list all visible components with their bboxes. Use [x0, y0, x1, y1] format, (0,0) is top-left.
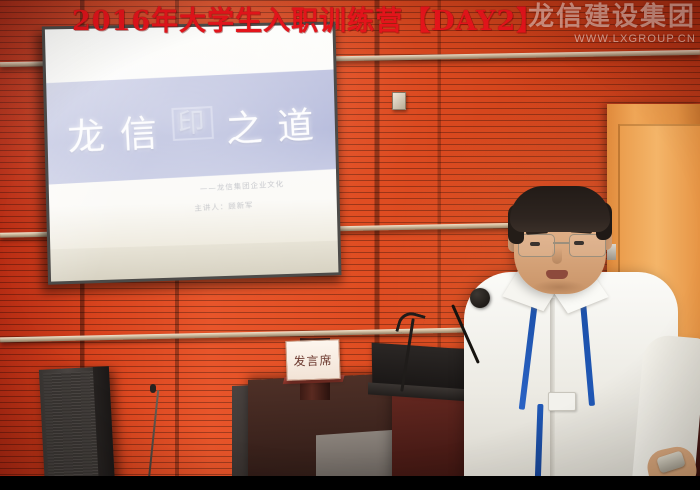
photo-canvas: 龙 信 印 之 道 ——龙信集团企业文化 主讲人：顾新军 发言席 — [0, 0, 700, 490]
calligraphy-char-2: 信 — [118, 102, 160, 158]
calligraphy-char-1: 龙 — [66, 104, 108, 160]
id-badge — [548, 392, 576, 411]
slide-presenter: 主讲人：顾新军 — [194, 200, 254, 214]
slide-calligraphy-title: 龙 信 印 之 道 — [45, 78, 337, 178]
loudspeaker — [39, 366, 115, 490]
calligraphy-char-4: 道 — [276, 94, 317, 150]
hair — [510, 186, 610, 232]
floor-microphone-head — [150, 384, 156, 393]
projected-slide: 龙 信 印 之 道 ——龙信集团企业文化 主讲人：顾新军 — [45, 25, 339, 282]
name-card: 发言席 — [285, 339, 340, 381]
slide-subtitle: ——龙信集团企业文化 — [199, 178, 284, 194]
chin-shadow — [532, 280, 586, 294]
mouth — [546, 270, 568, 279]
bottom-letterbox-bar — [0, 476, 700, 490]
title-banner: 2016年大学生入职训练营【DAY2】 — [72, 8, 692, 35]
name-card-text: 发言席 — [293, 351, 333, 369]
eyeglass-bridge — [553, 242, 569, 244]
podium-microphone-head — [470, 288, 490, 308]
slide-seal-stamp: 印 — [171, 106, 214, 141]
calligraphy-char-3: 之 — [224, 96, 265, 152]
speaker-grille — [43, 371, 99, 487]
eyeglasses — [518, 234, 604, 256]
projection-screen: 龙 信 印 之 道 ——龙信集团企业文化 主讲人：顾新军 — [42, 22, 342, 285]
name-card-face: 发言席 — [285, 339, 340, 381]
speaker-person — [452, 186, 700, 490]
